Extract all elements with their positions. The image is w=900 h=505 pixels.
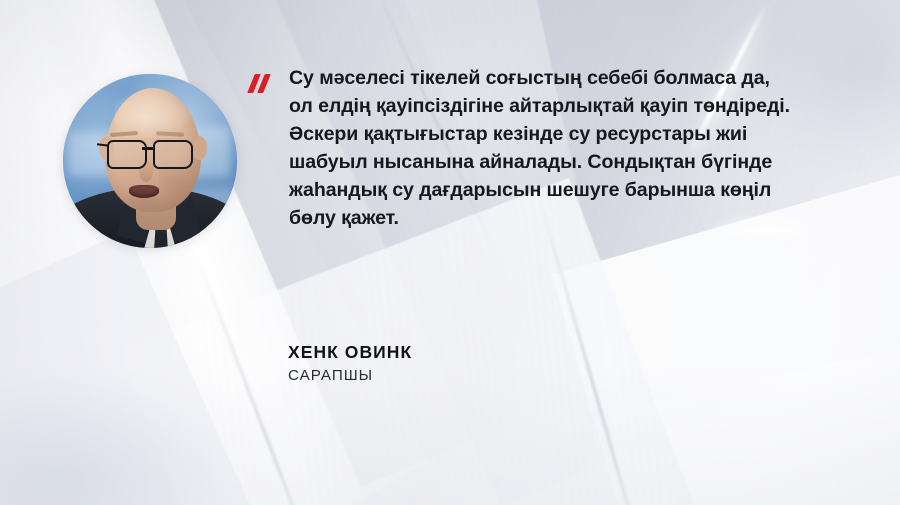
- double-slash-quote-icon: [249, 74, 275, 94]
- speaker-portrait: [63, 74, 237, 248]
- portrait-glasses-lens-right: [153, 140, 193, 169]
- speaker-role: САРАПШЫ: [288, 366, 708, 385]
- quote-card-screen: Су мәселесі тікелей соғыстың себебі болм…: [0, 0, 900, 505]
- quote-text: Су мәселесі тікелей соғыстың себебі болм…: [289, 64, 859, 232]
- portrait-chin-shadow: [123, 198, 167, 214]
- portrait-mouth: [129, 185, 159, 198]
- speaker-name: ХЕНК ОВИНК: [288, 342, 708, 363]
- portrait-glasses-lens-left: [107, 140, 147, 169]
- attribution-block: ХЕНК ОВИНК САРАПШЫ: [288, 342, 708, 385]
- portrait-glasses-bridge: [142, 147, 155, 150]
- portrait-ear-right: [192, 136, 207, 160]
